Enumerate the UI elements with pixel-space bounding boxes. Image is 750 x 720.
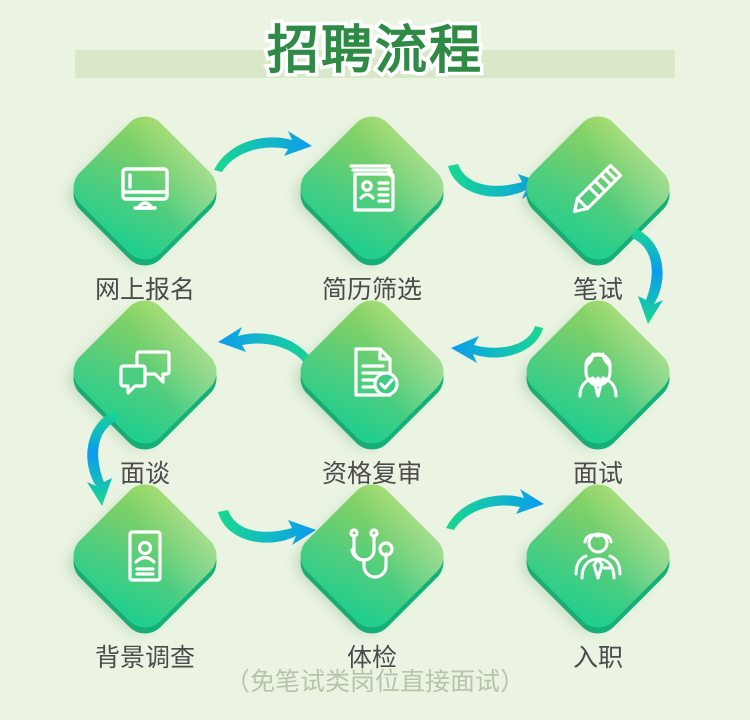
step-5-diamond xyxy=(292,292,452,452)
diamond-face xyxy=(291,475,452,636)
step-node-8[interactable]: 体检 xyxy=(292,476,452,636)
diamond-face xyxy=(64,107,225,268)
step-1-diamond xyxy=(65,108,225,268)
step-9-diamond xyxy=(518,476,678,636)
diamond-face xyxy=(517,291,678,452)
infographic-canvas: 招聘流程 xyxy=(0,0,750,720)
step-node-4[interactable]: 面试 xyxy=(518,292,678,452)
step-7-diamond xyxy=(65,476,225,636)
diamond-face xyxy=(517,475,678,636)
diamond-face xyxy=(64,475,225,636)
step-4-diamond xyxy=(518,292,678,452)
step-node-9[interactable]: 入职 xyxy=(518,476,678,636)
step-2-diamond xyxy=(292,108,452,268)
step-node-2[interactable]: 简历筛选 xyxy=(292,108,452,268)
step-node-5[interactable]: 资格复审 xyxy=(292,292,452,452)
step-8-diamond xyxy=(292,476,452,636)
diamond-face xyxy=(291,107,452,268)
footer-note: （免笔试类岗位直接面试） xyxy=(0,662,750,698)
step-node-1[interactable]: 网上报名 xyxy=(65,108,225,268)
page-title: 招聘流程 xyxy=(0,8,750,83)
diamond-face xyxy=(291,291,452,452)
step-node-7[interactable]: 背景调查 xyxy=(65,476,225,636)
